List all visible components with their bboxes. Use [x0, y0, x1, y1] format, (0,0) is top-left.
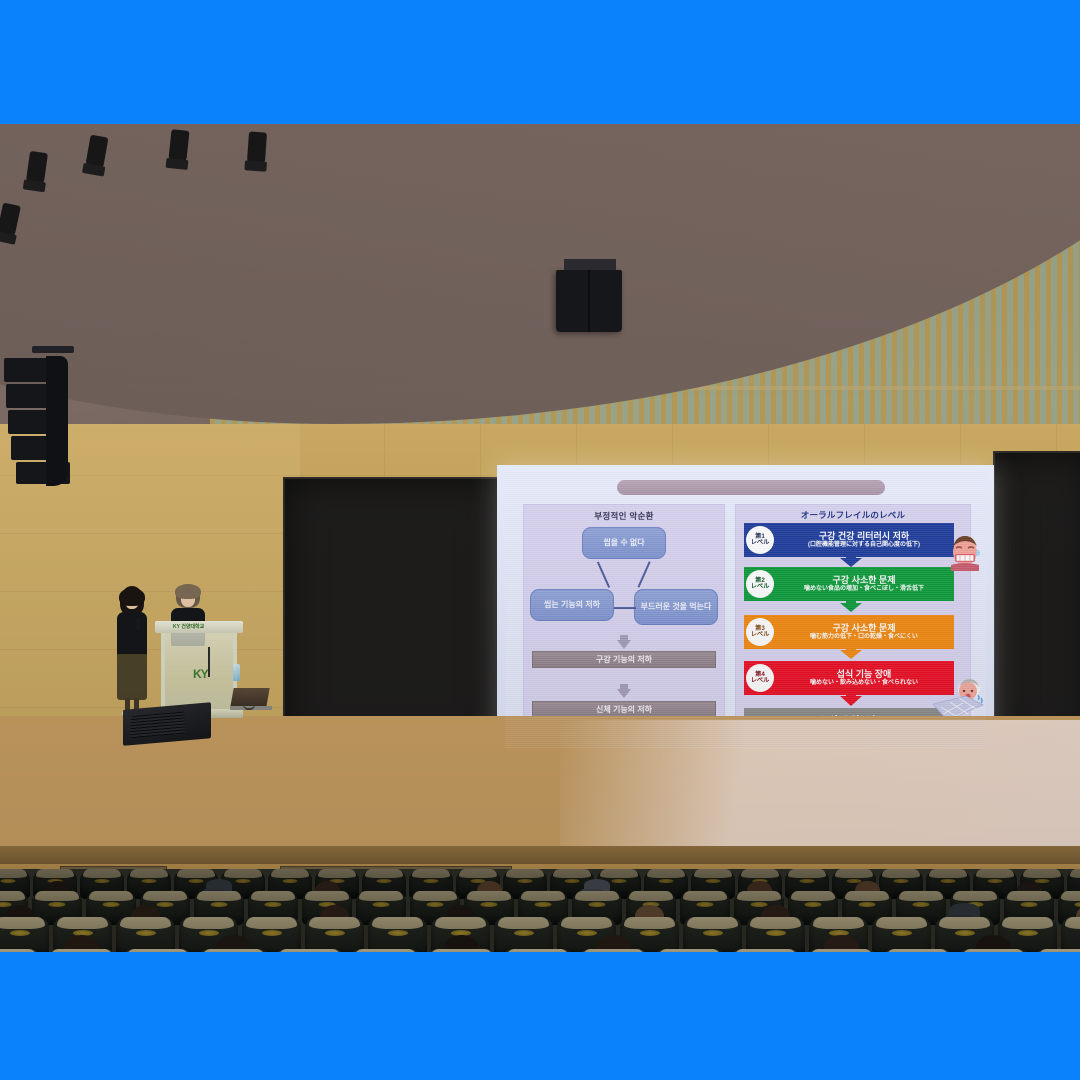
level-sub-3: 噛む筋力の低下・口の乾燥・食べにくい — [776, 634, 952, 641]
seat-number-plate — [236, 879, 251, 884]
seat-headrest — [278, 949, 340, 952]
level-badge-3: 第3 レベル — [746, 618, 774, 646]
auditorium-seat — [683, 917, 742, 952]
seat-headrest — [177, 869, 216, 878]
auditorium-seat — [578, 949, 649, 952]
seat-number-plate — [941, 879, 956, 884]
seat-number-plate — [265, 902, 282, 907]
seat-headrest — [467, 891, 511, 901]
level-sub-4: 噛めない・飲み込めない・食べられない — [776, 680, 952, 687]
seat-number-plate — [805, 902, 822, 907]
podium-logo: KY — [193, 667, 219, 685]
seat-headrest — [845, 891, 889, 901]
auditorium-seat — [0, 917, 49, 952]
seat-number-plate — [377, 879, 392, 884]
seat-headrest — [506, 949, 568, 952]
speaker-grill — [131, 711, 185, 738]
auditorium-seat — [198, 949, 269, 952]
seat-headrest — [1038, 949, 1080, 952]
seat-headrest — [251, 891, 295, 901]
level-main-4: 섭식 기능 장애 — [776, 669, 952, 679]
seat-number-plate — [913, 902, 930, 907]
seat-headrest — [1070, 869, 1080, 878]
seat-headrest — [687, 917, 739, 929]
seat-headrest — [1061, 891, 1080, 901]
seat-headrest — [430, 949, 492, 952]
seat-number-plate — [891, 930, 911, 936]
levels-heading: オーラルフレイルのレベル — [736, 509, 970, 521]
seat-headrest — [246, 917, 298, 929]
level-text-3: 구강 사소한 문제 噛む筋力の低下・口の乾燥・食べにくい — [774, 623, 954, 642]
seat-headrest — [130, 869, 169, 878]
auditorium-seat — [46, 949, 117, 952]
cycle-connector-line — [638, 561, 651, 587]
level-sub-2: 噛めない食品の増加・食べこぼし・滑舌低下 — [776, 586, 952, 593]
seat-number-plate — [697, 902, 714, 907]
seat-headrest — [36, 869, 75, 878]
level-text-1: 구강 건강 리터러시 저하 (口腔機能管理に対する自己関心度の低下) — [774, 531, 954, 550]
seat-number-plate — [142, 879, 157, 884]
seat-number-plate — [189, 879, 204, 884]
seat-headrest — [0, 891, 25, 901]
stage-floor-glare — [560, 720, 1080, 850]
stage-dark-panel-left — [283, 477, 502, 753]
seat-number-plate — [565, 879, 580, 884]
seat-headrest — [305, 891, 349, 901]
seat-headrest — [359, 891, 403, 901]
auditorium-seat — [494, 917, 553, 952]
podium-body: KY — [161, 633, 237, 711]
seat-headrest — [197, 891, 241, 901]
seat-number-plate — [373, 902, 390, 907]
seat-number-plate — [49, 902, 66, 907]
line-array-speaker-icon — [4, 352, 70, 492]
seat-headrest — [50, 949, 112, 952]
seat-headrest — [435, 917, 487, 929]
auditorium-seat — [958, 949, 1029, 952]
bedridden-elder-icon — [933, 676, 985, 720]
seat-headrest — [372, 917, 424, 929]
outcome-bar-oral: 구강 기능의 저하 — [532, 651, 716, 668]
auditorium-seat — [368, 917, 427, 952]
seat-number-plate — [765, 930, 785, 936]
level-text-2: 구강 사소한 문제 噛めない食品の増加・食べこぼし・滑舌低下 — [774, 575, 954, 594]
seat-headrest — [962, 949, 1024, 952]
level-main-1: 구강 건강 리터러시 저하 — [776, 531, 952, 541]
seat-headrest — [750, 917, 802, 929]
seat-headrest — [835, 869, 874, 878]
spotlight-icon — [168, 129, 189, 161]
cycle-box-right: 부드러운 것을 먹는다 — [634, 589, 718, 625]
seat-number-plate — [9, 930, 29, 936]
down-arrow-icon — [617, 689, 631, 698]
auditorium-seat — [806, 949, 877, 952]
auditorium-seat — [350, 949, 421, 952]
cycle-heading: 부정적인 악순환 — [524, 510, 724, 522]
cycle-connector-line — [597, 561, 610, 587]
level-arrow-icon — [840, 558, 862, 567]
level-row-1: 第1 レベル 구강 건강 리터러시 저하 (口腔機能管理に対する自己関心度の低下… — [744, 523, 954, 557]
seat-headrest — [899, 891, 943, 901]
auditorium-seat — [0, 949, 41, 952]
slide-left-panel: 부정적인 악순환 씹을 수 없다 씹는 기능의 저하 부드러운 것을 먹는다 구… — [523, 504, 725, 740]
seat-headrest — [683, 891, 727, 901]
seat-headrest — [354, 949, 416, 952]
seat-headrest — [810, 949, 872, 952]
seat-headrest — [953, 891, 997, 901]
seat-number-plate — [1, 879, 16, 884]
level-main-2: 구강 사소한 문제 — [776, 575, 952, 585]
auditorium-seat — [1034, 949, 1080, 952]
seat-headrest — [0, 917, 45, 929]
seat-number-plate — [283, 879, 298, 884]
seat-number-plate — [198, 930, 218, 936]
spotlight-icon — [247, 131, 267, 162]
seat-number-plate — [135, 930, 155, 936]
seat-number-plate — [211, 902, 228, 907]
seat-number-plate — [894, 879, 909, 884]
seat-number-plate — [1017, 930, 1037, 936]
cycle-box-top: 씹을 수 없다 — [582, 527, 666, 559]
seat-headrest — [929, 869, 968, 878]
level-badge-1: 第1 レベル — [746, 526, 774, 554]
seat-headrest — [183, 917, 235, 929]
auditorium-seat — [654, 949, 725, 952]
auditorium-seat — [746, 917, 805, 952]
seat-headrest — [0, 949, 37, 952]
level-arrow-icon — [840, 696, 862, 706]
level-badge-2: 第2 レベル — [746, 570, 774, 598]
seat-number-plate — [859, 902, 876, 907]
seat-headrest — [202, 949, 264, 952]
audience-cap-icon — [206, 879, 232, 891]
seat-headrest — [734, 949, 796, 952]
seat-number-plate — [702, 930, 722, 936]
auditorium-seat — [730, 949, 801, 952]
auditorium-seat — [274, 949, 345, 952]
level-text-4: 섭식 기능 장애 噛めない・飲み込めない・食べられない — [774, 669, 954, 688]
seat-number-plate — [424, 879, 439, 884]
seat-headrest — [647, 869, 686, 878]
seat-headrest — [1007, 891, 1051, 901]
seat-number-plate — [513, 930, 533, 936]
presenter-left — [112, 586, 152, 718]
seat-headrest — [143, 891, 187, 901]
seat-number-plate — [576, 930, 596, 936]
image-frame: 부정적인 악순환 씹을 수 없다 씹는 기능의 저하 부드러운 것을 먹는다 구… — [0, 0, 1080, 1080]
seat-number-plate — [751, 902, 768, 907]
level-arrow-icon — [840, 603, 862, 612]
seat-headrest — [120, 917, 172, 929]
seat-number-plate — [639, 930, 659, 936]
seat-headrest — [876, 917, 928, 929]
microphone-stand — [208, 647, 210, 677]
seat-headrest — [553, 869, 592, 878]
stage-dark-panel-right — [993, 451, 1080, 753]
seat-number-plate — [1075, 902, 1080, 907]
seat-number-plate — [103, 902, 120, 907]
podium-institution-label: KY 건양대학교 — [173, 623, 204, 630]
seat-headrest — [600, 869, 639, 878]
slide-title-bar — [617, 480, 885, 495]
seat-headrest — [882, 869, 921, 878]
seat-headrest — [521, 891, 565, 901]
seat-headrest — [506, 869, 545, 878]
seat-headrest — [582, 949, 644, 952]
level-badge-bottom: レベル — [751, 678, 770, 684]
level-badge-4: 第4 レベル — [746, 664, 774, 692]
seat-number-plate — [261, 930, 281, 936]
seat-headrest — [886, 949, 948, 952]
grimacing-face-icon — [948, 533, 982, 571]
auditorium-seat — [502, 949, 573, 952]
audience-cap-icon — [584, 879, 610, 891]
seat-number-plate — [954, 930, 974, 936]
cycle-box-left: 씹는 기능의 저하 — [530, 589, 614, 621]
down-arrow-icon — [617, 640, 631, 649]
seat-number-plate — [612, 879, 627, 884]
audio-cable — [240, 654, 258, 710]
seat-headrest — [498, 917, 550, 929]
seat-headrest — [813, 917, 865, 929]
level-sub-1: (口腔機能管理に対する自己関心度の低下) — [776, 542, 952, 549]
auditorium-seat — [882, 949, 953, 952]
level-row-4: 第4 レベル 섭식 기능 장애 噛めない・飲み込めない・食べられない — [744, 661, 954, 695]
seat-headrest — [83, 869, 122, 878]
cycle-connector-line — [614, 607, 636, 609]
seat-headrest — [791, 891, 835, 901]
level-arrow-icon — [840, 650, 862, 659]
level-badge-bottom: レベル — [751, 540, 770, 546]
auditorium-seat — [872, 917, 931, 952]
seat-headrest — [412, 869, 451, 878]
seat-headrest — [365, 869, 404, 878]
seat-headrest — [224, 869, 263, 878]
audience-cap-icon — [949, 903, 980, 917]
seat-headrest — [788, 869, 827, 878]
seat-number-plate — [535, 902, 552, 907]
seat-number-plate — [95, 879, 110, 884]
seat-number-plate — [387, 930, 407, 936]
level-badge-bottom: レベル — [751, 584, 770, 590]
seat-headrest — [1023, 869, 1062, 878]
seat-headrest — [737, 891, 781, 901]
level-row-2: 第2 レベル 구강 사소한 문제 噛めない食品の増加・食べこぼし・滑舌低下 — [744, 567, 954, 601]
seat-number-plate — [800, 879, 815, 884]
seat-headrest — [575, 891, 619, 901]
auditorium-seat — [116, 917, 175, 952]
seat-number-plate — [706, 879, 721, 884]
seat-number-plate — [659, 879, 674, 884]
auditorium-photograph: 부정적인 악순환 씹을 수 없다 씹는 기능의 저하 부드러운 것을 먹는다 구… — [0, 124, 1080, 952]
seat-number-plate — [1021, 902, 1038, 907]
seat-headrest — [741, 869, 780, 878]
seat-number-plate — [481, 902, 498, 907]
ceiling-speaker-icon — [556, 270, 622, 332]
audience-seating: G-22F-22F-23F-21E-20E-21G-23F-24E-22D-19… — [0, 869, 1080, 952]
seat-headrest — [658, 949, 720, 952]
level-row-3: 第3 レベル 구강 사소한 문제 噛む筋力の低下・口の乾燥・食べにくい — [744, 615, 954, 649]
seat-headrest — [1002, 917, 1054, 929]
presentation-slide: 부정적인 악순환 씹을 수 없다 씹는 기능의 저하 부드러운 것을 먹는다 구… — [505, 471, 986, 748]
seat-headrest — [35, 891, 79, 901]
auditorium-seat — [305, 917, 364, 952]
seat-number-plate — [157, 902, 174, 907]
projection-screen: 부정적인 악순환 씹을 수 없다 씹는 기능의 저하 부드러운 것을 먹는다 구… — [497, 465, 994, 754]
seat-headrest — [0, 869, 27, 878]
seat-headrest — [413, 891, 457, 901]
auditorium-seat — [426, 949, 497, 952]
microphone-icon — [136, 618, 140, 630]
seat-number-plate — [518, 879, 533, 884]
auditorium-seat — [122, 949, 193, 952]
seat-number-plate — [589, 902, 606, 907]
water-bottle — [233, 664, 240, 681]
auditorium-seat — [1061, 917, 1080, 952]
seat-headrest — [271, 869, 310, 878]
seat-number-plate — [324, 930, 344, 936]
seat-headrest — [939, 917, 991, 929]
seat-headrest — [89, 891, 133, 901]
seat-headrest — [976, 869, 1015, 878]
seat-headrest — [57, 917, 109, 929]
seat-headrest — [309, 917, 361, 929]
seat-number-plate — [988, 879, 1003, 884]
seat-headrest — [459, 869, 498, 878]
floor-monitor-speaker — [123, 702, 211, 746]
seat-headrest — [126, 949, 188, 952]
level-main-3: 구강 사소한 문제 — [776, 623, 952, 633]
seat-headrest — [1065, 917, 1080, 929]
seat-headrest — [318, 869, 357, 878]
seat-number-plate — [427, 902, 444, 907]
seat-headrest — [561, 917, 613, 929]
seat-headrest — [624, 917, 676, 929]
seat-headrest — [629, 891, 673, 901]
level-badge-bottom: レベル — [751, 632, 770, 638]
seat-headrest — [694, 869, 733, 878]
